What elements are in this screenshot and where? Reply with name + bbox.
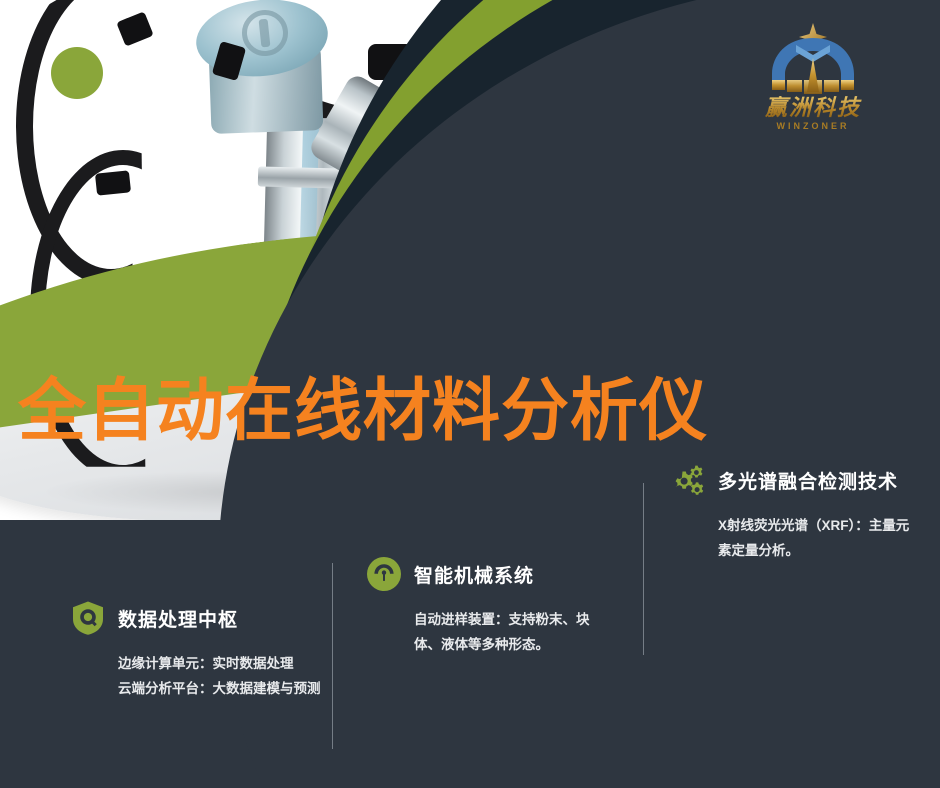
logo-chinese-name: 赢洲科技 xyxy=(752,96,874,119)
gauge-icon xyxy=(366,556,402,592)
poster-canvas: OLYMPUS xyxy=(0,0,940,788)
feature-body: X射线荧光光谱（XRF）：主量元素定量分析。 xyxy=(718,514,918,564)
power-button-icon[interactable] xyxy=(500,212,519,231)
brand-logo[interactable]: 赢洲科技 WINZONER xyxy=(752,22,874,138)
detector-screw xyxy=(547,324,553,330)
page-title: 全自动在线材料分析仪 xyxy=(18,378,708,446)
feature-title: 数据处理中枢 xyxy=(118,605,238,632)
conduit-clip xyxy=(368,44,414,80)
feature-body: 边缘计算单元：实时数据处理 云端分析平台：大数据建模与预测 xyxy=(118,652,378,702)
photo-reflection xyxy=(40,470,460,514)
feature-body-line: 云端分析平台：大数据建模与预测 xyxy=(118,677,378,702)
detector-heatsink-fins xyxy=(458,244,550,328)
robot-spec-label xyxy=(287,299,340,343)
feature-body: 自动进样装置：支持粉末、块体、液体等多种形态。 xyxy=(414,608,610,658)
status-led-icon xyxy=(486,217,493,224)
feature-smart-mechanical: 智能机械系统 自动进样装置：支持粉末、块体、液体等多种形态。 xyxy=(366,556,616,658)
detector-brand-mark: OLYMPUS xyxy=(462,318,546,332)
gears-icon xyxy=(670,462,706,498)
feature-multi-spectral: 多光谱融合检测技术 X射线荧光光谱（XRF）：主量元素定量分析。 xyxy=(670,462,920,564)
detector-screw xyxy=(547,206,553,212)
detector-screw xyxy=(461,206,467,212)
feature-title: 智能机械系统 xyxy=(414,561,534,588)
winzoner-arch-logo xyxy=(752,22,874,96)
shield-q-icon xyxy=(70,600,106,636)
conduit-clip xyxy=(95,170,131,195)
green-accent-dot xyxy=(51,47,103,99)
conduit-clip xyxy=(167,282,202,308)
feature-data-hub: 数据处理中枢 边缘计算单元：实时数据处理 云端分析平台：大数据建模与预测 xyxy=(70,600,370,702)
feature-title: 多光谱融合检测技术 xyxy=(718,467,898,494)
logo-english-name: WINZONER xyxy=(752,121,874,131)
feature-body-line: 边缘计算单元：实时数据处理 xyxy=(118,652,378,677)
feature-divider-right xyxy=(643,483,644,655)
